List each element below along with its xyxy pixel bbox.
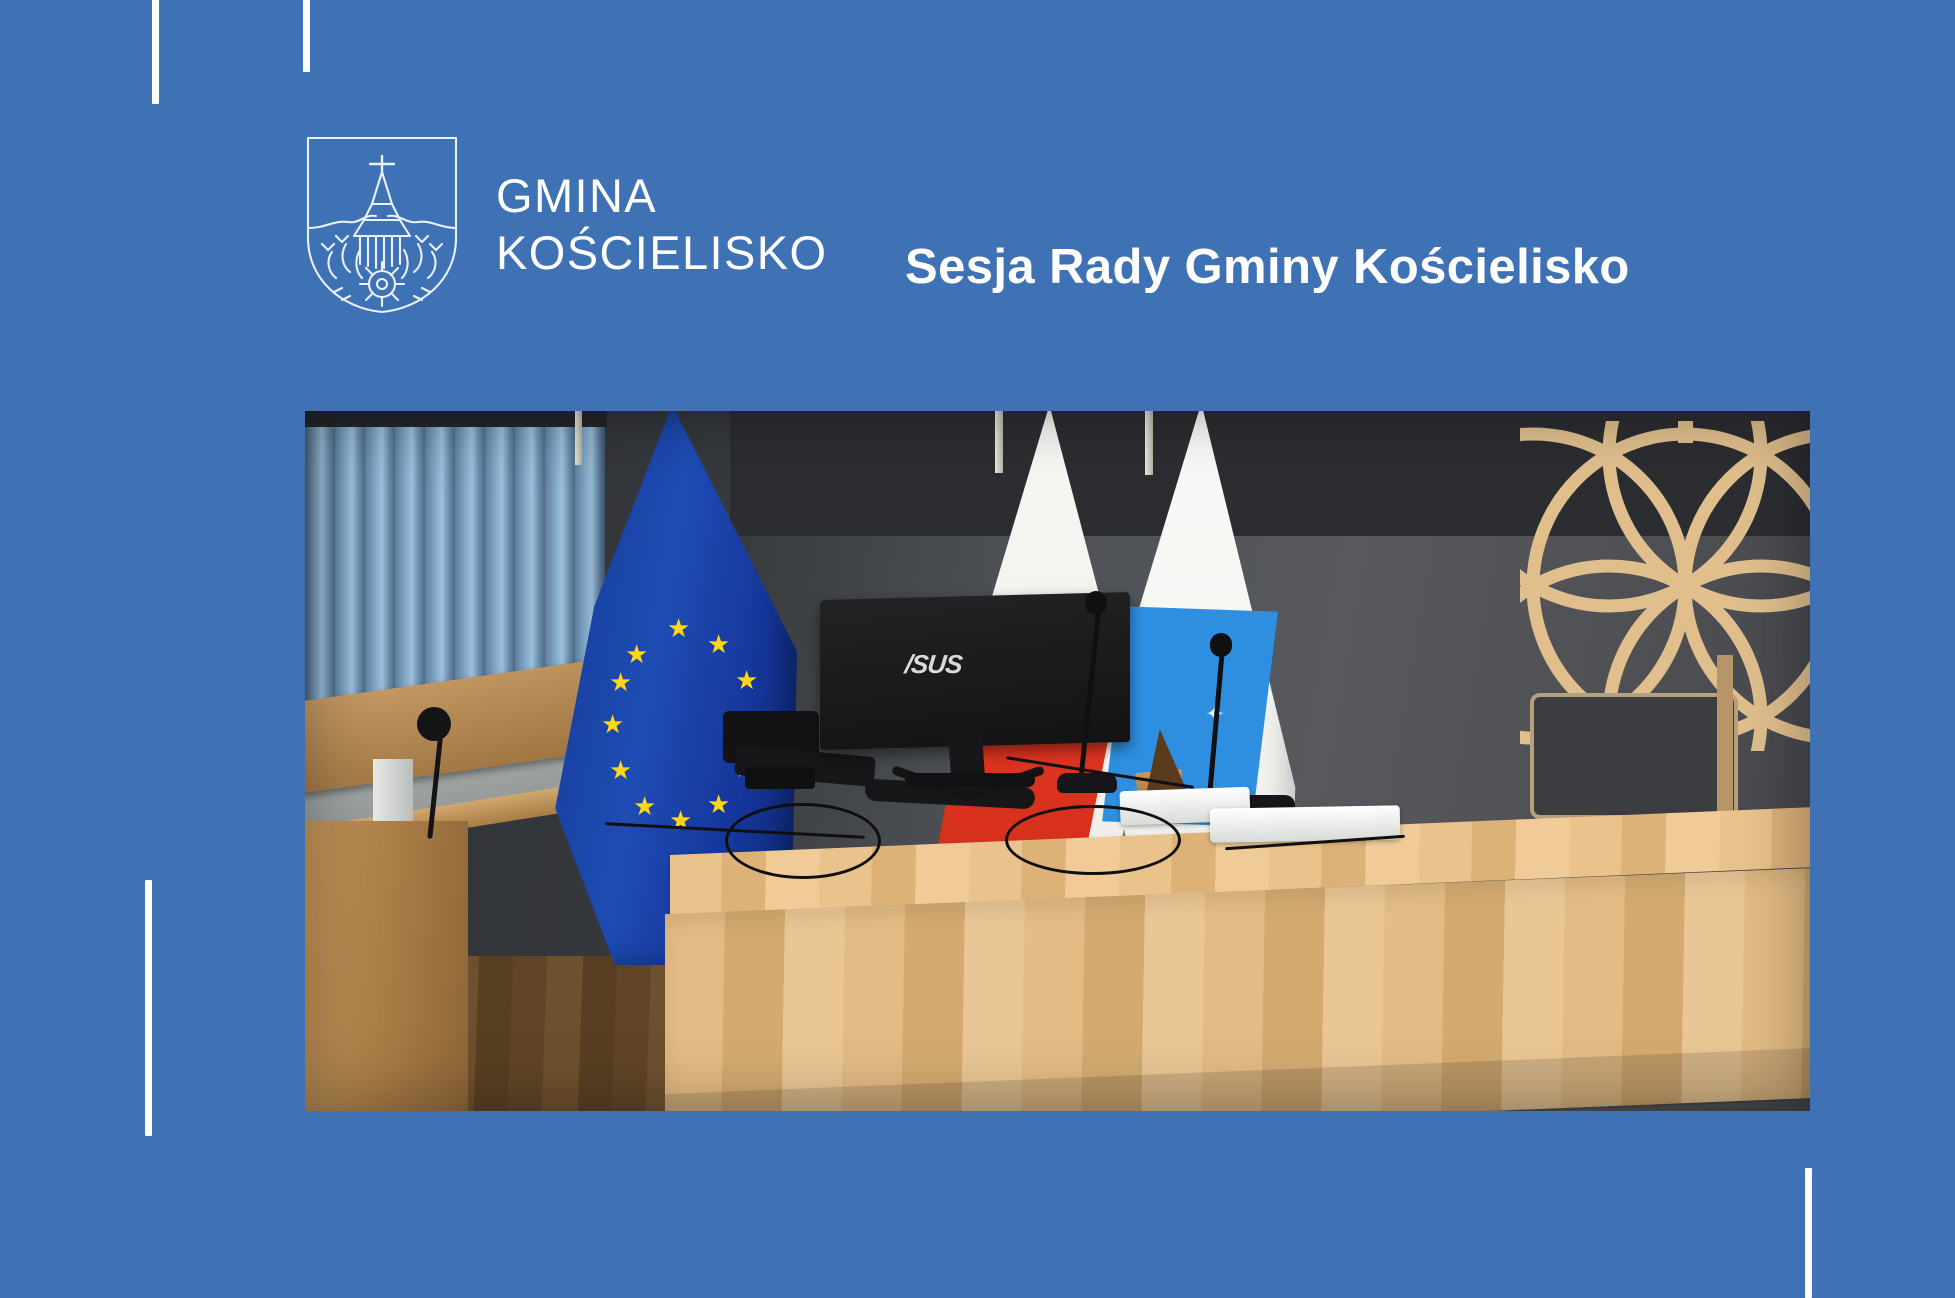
eu-star-icon: ★ xyxy=(633,793,656,819)
page-title: Sesja Rady Gminy Kościelisko xyxy=(905,239,1630,295)
decor-rule-bottom-right xyxy=(1805,1168,1812,1298)
lectern-microphone-icon xyxy=(417,707,451,741)
eu-star-icon: ★ xyxy=(707,631,730,657)
decor-rule-top-left-a xyxy=(152,0,159,104)
eu-star-icon: ★ xyxy=(667,615,690,641)
session-photo: ★ ★ ★ ★ ★ ★ ★ ★ ★ ★ ★ ★ ✦ xyxy=(305,411,1810,1111)
eu-star-icon: ★ xyxy=(625,641,648,667)
eu-star-icon: ★ xyxy=(735,667,758,693)
eu-star-icon: ★ xyxy=(601,711,624,737)
wooden-lectern xyxy=(305,821,468,1111)
brand-name: GMINA KOŚCIELISKO xyxy=(496,168,827,281)
camera-stand xyxy=(745,767,815,789)
eu-star-icon: ★ xyxy=(609,669,632,695)
eu-star-icon: ★ xyxy=(609,757,632,783)
poland-flag-pole xyxy=(995,411,1003,473)
asus-logo: /SUS xyxy=(903,649,963,680)
presentation-slide: GMINA KOŚCIELISKO Sesja Rady Gminy Kości… xyxy=(0,0,1955,1280)
conference-chair xyxy=(1530,693,1738,819)
cable-loop xyxy=(725,803,881,879)
gooseneck-microphone-base xyxy=(1057,773,1117,793)
eu-star-icon: ★ xyxy=(707,791,730,817)
cable-loop xyxy=(1005,805,1181,875)
decor-rule-bottom-left xyxy=(145,880,152,1136)
decor-rule-top-left-b xyxy=(303,0,310,72)
eu-flag-pole xyxy=(575,411,582,465)
brand-lockup: GMINA KOŚCIELISKO xyxy=(302,132,827,317)
monitor-base xyxy=(905,773,1035,787)
blinds-headrail xyxy=(305,411,607,427)
municipal-flag-pole xyxy=(1145,411,1153,475)
kosecielisko-coat-of-arms-icon xyxy=(302,132,462,317)
